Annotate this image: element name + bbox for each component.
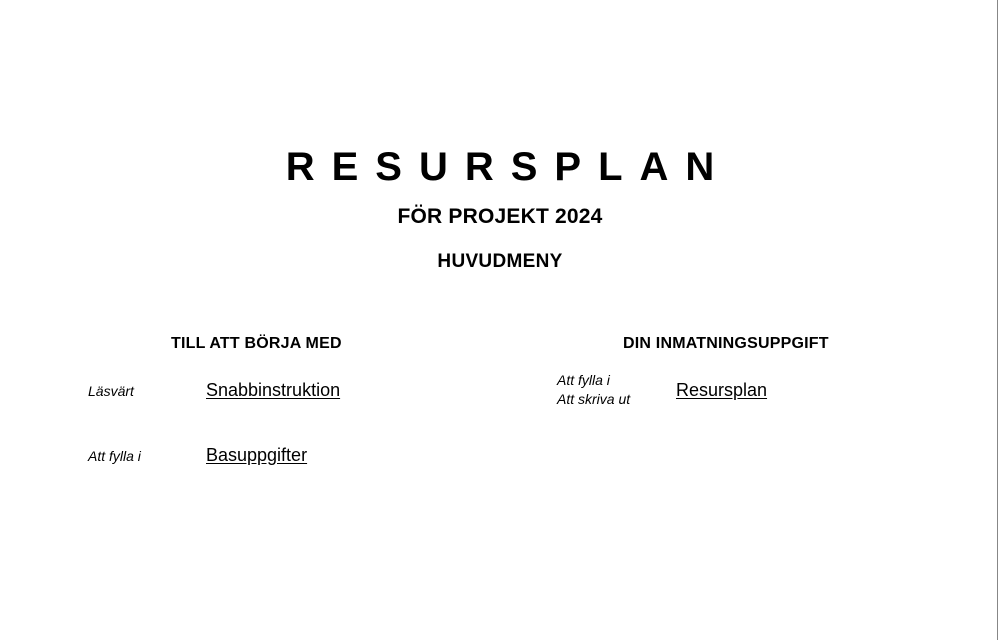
section-heading-start: TILL ATT BÖRJA MED [171, 334, 342, 354]
menu-heading: HUVUDMENY [0, 249, 1000, 275]
link-resursplan[interactable]: Resursplan [676, 379, 767, 401]
row-label-lasvart: Läsvärt [88, 382, 134, 401]
row-label-att-fylla-i: Att fylla i [88, 447, 141, 466]
page-right-rule [997, 0, 998, 640]
page-title: RESURSPLAN [0, 142, 1000, 192]
link-snabbinstruktion[interactable]: Snabbinstruktion [206, 379, 340, 401]
page-subtitle: FÖR PROJEKT 2024 [0, 204, 1000, 230]
link-basuppgifter[interactable]: Basuppgifter [206, 444, 307, 466]
row-label-att-fylla-i-skriva-ut: Att fylla i Att skriva ut [557, 371, 630, 409]
page-canvas: RESURSPLAN FÖR PROJEKT 2024 HUVUDMENY TI… [0, 0, 1000, 640]
row-label-line-2: Att skriva ut [557, 390, 630, 409]
row-label-line-1: Att fylla i [557, 371, 630, 390]
section-heading-input: DIN INMATNINGSUPPGIFT [623, 334, 829, 354]
